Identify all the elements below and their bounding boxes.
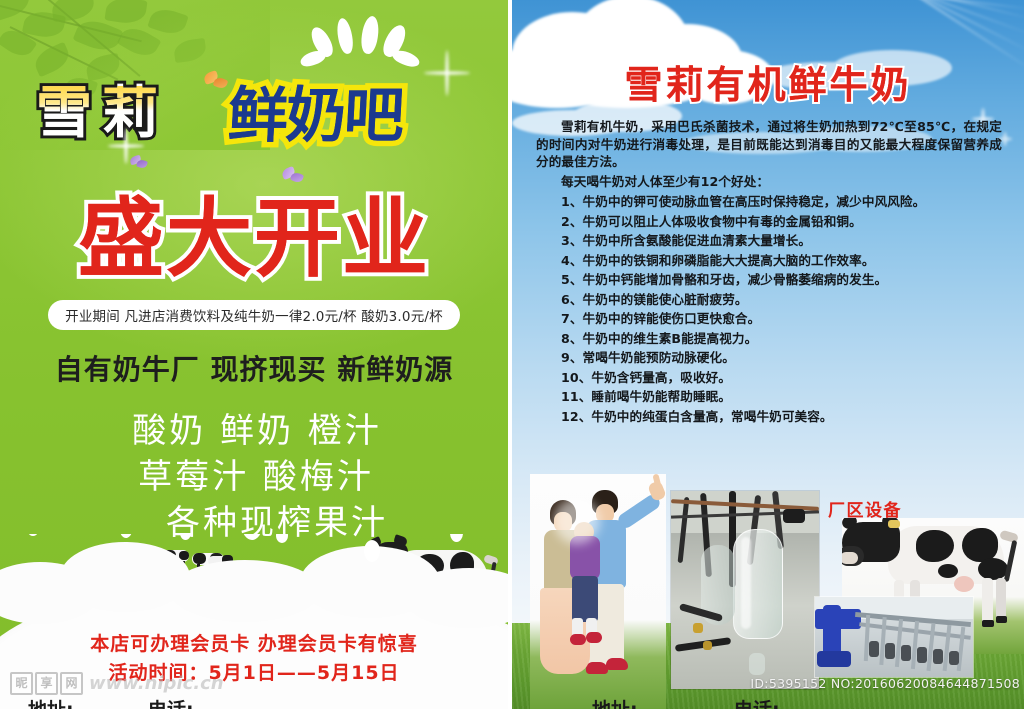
- product-row: 草莓汁 酸梅汁: [0, 454, 508, 500]
- benefit-item: 4、牛奶中的铁铜和卵磷脂能大大提高大脑的工作效率。: [536, 251, 1002, 271]
- product-row: 酸奶 鲜奶 橙汁: [0, 408, 508, 454]
- benefit-item: 8、牛奶中的维生素B能提高视力。: [536, 329, 1002, 349]
- milking-parlor-photo: [814, 596, 974, 678]
- membership-promo-line: 本店可办理会员卡 办理会员卡有惊喜: [0, 629, 508, 656]
- watermark-char: 享: [35, 672, 58, 695]
- intro-paragraph: 雪莉有机牛奶，采用巴氏杀菌技术，通过将生奶加热到72℃至85℃，在规定的时间内对…: [536, 118, 1002, 171]
- product-list: 酸奶 鲜奶 橙汁 草莓汁 酸梅汁 各种现榨果汁: [0, 408, 508, 546]
- family-photo: [530, 474, 666, 709]
- watermark-char: 网: [60, 672, 83, 695]
- benefits-list: 1、牛奶中的钾可使动脉血管在高压时保持稳定，减少中风风险。 2、牛奶可以阻止人体…: [536, 192, 1002, 426]
- benefit-item: 1、牛奶中的钾可使动脉血管在高压时保持稳定，减少中风风险。: [536, 192, 1002, 212]
- watermark-char: 昵: [10, 672, 33, 695]
- right-flyer-panel: 雪莉有机鲜牛奶 雪莉有机鲜牛奶 雪莉有机牛奶，采用巴氏杀菌技术，通过将生奶加热到…: [512, 0, 1024, 709]
- left-flyer-panel: 雪莉 雪莉 鲜奶吧 鲜奶吧 盛大开业 盛大开业: [0, 0, 508, 709]
- benefit-item: 6、牛奶中的镁能使心脏耐疲劳。: [536, 290, 1002, 310]
- farm-tagline: 自有奶牛厂 现挤现买 新鲜奶源: [0, 348, 508, 388]
- benefit-item: 5、牛奶中钙能增加骨骼和牙齿，减少骨骼萎缩病的发生。: [536, 270, 1002, 290]
- promo-pill-text: 开业期间 凡进店消费饮料及纯牛奶一律2.0元/杯 酸奶3.0元/杯: [65, 305, 443, 325]
- benefit-item: 10、牛奶含钙量高，吸收好。: [536, 368, 1002, 388]
- phone-label-right: 电话:: [734, 695, 780, 709]
- brand-name: 雪莉: [36, 86, 168, 142]
- benefit-item: 11、睡前喝牛奶能帮助睡眠。: [536, 387, 1002, 407]
- milking-equipment-photo: [670, 490, 820, 690]
- watermark-badge: 昵 享 网: [10, 672, 83, 695]
- benefit-item: 3、牛奶中所含氨酸能促进血清素大量增长。: [536, 231, 1002, 251]
- organic-milk-title: 雪莉有机鲜牛奶: [512, 54, 1024, 109]
- address-label-right: 地址:: [592, 695, 638, 709]
- benefit-item: 7、牛奶中的锌能使伤口更快愈合。: [536, 309, 1002, 329]
- watermark-url: www.nipic.cn: [89, 673, 224, 694]
- benefit-item: 12、牛奶中的纯蛋白含量高，常喝牛奶可美容。: [536, 407, 1002, 427]
- benefit-item: 9、常喝牛奶能预防动脉硬化。: [536, 348, 1002, 368]
- grand-opening-headline: 盛大开业: [22, 196, 486, 282]
- milk-bar-logo-fill: 鲜奶吧: [226, 86, 403, 146]
- milk-bar-logo: 鲜奶吧 鲜奶吧: [228, 86, 468, 172]
- benefits-intro: 每天喝牛奶对人体至少有12个好处：: [536, 173, 1002, 191]
- promo-pill-banner: 开业期间 凡进店消费饮料及纯牛奶一律2.0元/杯 酸奶3.0元/杯: [48, 300, 460, 330]
- nipic-watermark: 昵 享 网 www.nipic.cn: [10, 672, 224, 695]
- organic-milk-article: 雪莉有机牛奶，采用巴氏杀菌技术，通过将生奶加热到72℃至85℃，在规定的时间内对…: [536, 118, 1002, 426]
- phone-label-left: 电话:: [148, 695, 194, 709]
- id-watermark: ID:5395152 NO:20160620084644871508: [750, 676, 1020, 691]
- flyer-page: 雪莉 雪莉 鲜奶吧 鲜奶吧 盛大开业 盛大开业: [0, 0, 1024, 709]
- address-label-left: 地址:: [28, 695, 74, 709]
- benefit-item: 2、牛奶可以阻止人体吸收食物中有毒的金属铅和铜。: [536, 212, 1002, 232]
